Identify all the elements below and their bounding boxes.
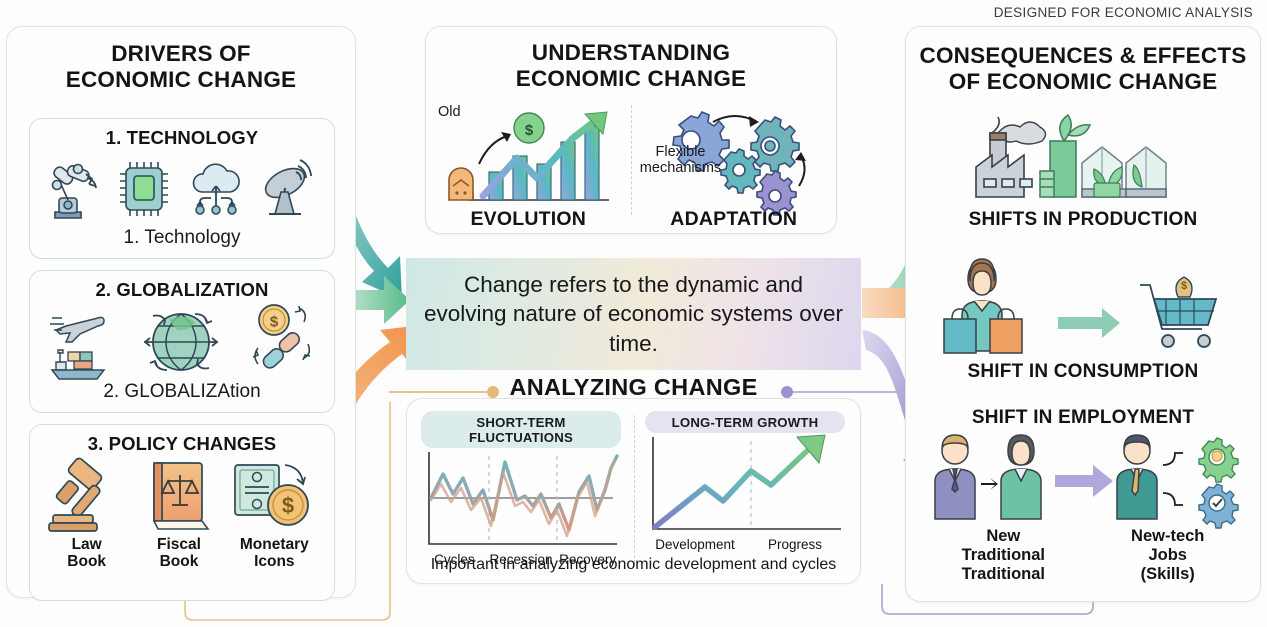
half-evolution: $ Old EVOLUTION bbox=[426, 99, 631, 231]
connector-dot-left bbox=[487, 386, 499, 398]
drivers-title-line1: DRIVERS OF bbox=[7, 41, 355, 67]
money-gear-icon: $ bbox=[514, 113, 544, 143]
airplane-icon bbox=[50, 317, 104, 342]
banknote-coin-icon: $ bbox=[231, 459, 317, 535]
row-shift-in-employment[interactable]: SHIFT IN EMPLOYMENT bbox=[906, 407, 1260, 583]
panel-analyzing-change: SHORT-TERM FLUCTUATIONS Cycles Recession… bbox=[406, 398, 861, 584]
card-technology-head: 1. TECHNOLOGY bbox=[30, 127, 334, 149]
adaptation-label: ADAPTATION bbox=[670, 208, 797, 231]
infographic-canvas: DESIGNED FOR ECONOMIC ANALYSIS bbox=[0, 0, 1267, 627]
policy-item-law-book: Law Book bbox=[47, 459, 127, 571]
panel-drivers-of-economic-change: DRIVERS OF ECONOMIC CHANGE 1. TECHNOLOGY bbox=[6, 26, 356, 598]
worker-woman-icon bbox=[1001, 435, 1041, 519]
employment-small-arrow-icon bbox=[981, 478, 998, 490]
check-gear-icon bbox=[1199, 484, 1238, 528]
card-globalization[interactable]: 2. GLOBALIZATION bbox=[29, 270, 335, 413]
evolution-note: Old bbox=[438, 105, 461, 121]
long-term-axis-captions: Development Progress bbox=[645, 537, 845, 552]
technology-icon-row bbox=[30, 149, 334, 227]
chart-long-term-chip: LONG-TERM GROWTH bbox=[645, 411, 845, 433]
card-policy-changes[interactable]: 3. POLICY CHANGES Law Book bbox=[29, 424, 335, 601]
label-shift-in-employment: SHIFT IN EMPLOYMENT bbox=[906, 407, 1260, 429]
policy-item-monetary-icons: $ Monetary Icons bbox=[231, 459, 317, 571]
bulb-gear-icon bbox=[1199, 438, 1238, 482]
law-book-caption: Law Book bbox=[47, 536, 127, 571]
chart-short-term-fluctuations[interactable]: SHORT-TERM FLUCTUATIONS Cycles Recession… bbox=[421, 411, 621, 567]
drivers-title-line2: ECONOMIC CHANGE bbox=[7, 67, 355, 93]
scales-book-icon bbox=[144, 459, 214, 535]
globalization-icon-row: $ bbox=[30, 301, 334, 381]
label-shift-in-consumption: SHIFT IN CONSUMPTION bbox=[906, 361, 1260, 383]
svg-text:$: $ bbox=[282, 493, 294, 518]
coin-chain-icon: $ bbox=[250, 300, 314, 384]
long-term-line-chart bbox=[645, 433, 845, 537]
analyzing-change-title: ANALYZING CHANGE bbox=[406, 374, 861, 401]
fiscal-book-caption: Fiscal Book bbox=[144, 536, 214, 571]
row-shift-in-consumption[interactable]: $ SHIFT IN CONSUMPTION bbox=[906, 263, 1260, 383]
short-term-line-chart bbox=[421, 448, 621, 552]
adaptation-note: Flexible mechanisms bbox=[638, 145, 724, 177]
analyzing-footer-text: Important in analyzing economic developm… bbox=[407, 556, 860, 574]
cloud-network-icon bbox=[186, 158, 246, 220]
central-statement-text: Change refers to the dynamic and evolvin… bbox=[422, 270, 845, 358]
svg-text:$: $ bbox=[1181, 280, 1187, 292]
policy-icon-row: Law Book bbox=[30, 455, 334, 565]
understanding-title: UNDERSTANDING ECONOMIC CHANGE bbox=[426, 40, 836, 91]
caption-development: Development bbox=[645, 537, 745, 552]
cargo-ship-icon bbox=[52, 350, 104, 379]
row-shifts-in-production[interactable]: SHIFTS IN PRODUCTION bbox=[906, 105, 1260, 231]
card-globalization-head: 2. GLOBALIZATION bbox=[30, 279, 334, 301]
analyze-divider bbox=[634, 415, 635, 563]
card-technology[interactable]: 1. TECHNOLOGY bbox=[29, 118, 335, 259]
drivers-title: DRIVERS OF ECONOMIC CHANGE bbox=[7, 41, 355, 92]
employment-captions: New Traditional Traditional New-tech Job… bbox=[906, 527, 1260, 583]
understanding-halves: $ Old EVOLUTION bbox=[426, 99, 836, 231]
understanding-title-line2: ECONOMIC CHANGE bbox=[426, 66, 836, 92]
employment-caption-left: New Traditional Traditional bbox=[962, 527, 1045, 583]
policy-item-fiscal-book: Fiscal Book bbox=[144, 459, 214, 571]
satellite-dish-icon bbox=[261, 158, 319, 220]
cart-money-bag-icon: $ bbox=[1176, 277, 1192, 297]
dollar-coin-icon: $ bbox=[259, 305, 289, 335]
card-policy-head: 3. POLICY CHANGES bbox=[30, 433, 334, 455]
chain-link-icon bbox=[261, 330, 302, 370]
panel-consequences-effects: CONSEQUENCES & EFFECTS OF ECONOMIC CHANG… bbox=[905, 26, 1261, 602]
svg-text:$: $ bbox=[525, 122, 534, 139]
label-shifts-in-production: SHIFTS IN PRODUCTION bbox=[906, 209, 1260, 231]
consequences-title-line1: CONSEQUENCES & EFFECTS bbox=[906, 43, 1260, 69]
half-adaptation: Flexible mechanisms ADAPTATION bbox=[632, 99, 837, 231]
svg-text:$: $ bbox=[270, 313, 279, 330]
connector-dot-right bbox=[781, 386, 793, 398]
airplane-ship-icon-group bbox=[50, 304, 112, 380]
consequences-title-line2: OF ECONOMIC CHANGE bbox=[906, 69, 1260, 95]
employment-caption-right: New-tech Jobs (Skills) bbox=[1131, 527, 1204, 583]
card-globalization-foot: 2. GLOBALIZAtion bbox=[30, 381, 334, 403]
old-factory-icon bbox=[449, 168, 473, 200]
tech-worker-icon bbox=[1117, 435, 1157, 519]
consequences-title: CONSEQUENCES & EFFECTS OF ECONOMIC CHANG… bbox=[906, 43, 1260, 94]
growth-bar-chart-icon: $ bbox=[433, 108, 623, 208]
monetary-icons-caption: Monetary Icons bbox=[231, 536, 317, 571]
employment-branch-lines bbox=[1163, 453, 1183, 505]
consumption-arrow-icon bbox=[1058, 308, 1120, 338]
understanding-title-line1: UNDERSTANDING bbox=[426, 40, 836, 66]
factory-greenhouse-icon bbox=[958, 105, 1208, 209]
microchip-icon bbox=[116, 158, 172, 220]
evolution-label: EVOLUTION bbox=[470, 208, 586, 231]
globe-icon bbox=[135, 300, 227, 384]
factory-icon bbox=[976, 117, 1046, 197]
worker-man-icon bbox=[935, 435, 975, 519]
header-tagline: DESIGNED FOR ECONOMIC ANALYSIS bbox=[994, 5, 1253, 20]
chart-short-term-chip: SHORT-TERM FLUCTUATIONS bbox=[421, 411, 621, 448]
panel-understanding-economic-change: UNDERSTANDING ECONOMIC CHANGE bbox=[425, 26, 837, 234]
card-technology-foot: 1. Technology bbox=[30, 227, 334, 249]
employment-big-arrow-icon bbox=[1055, 465, 1113, 497]
gavel-icon bbox=[47, 459, 127, 535]
employment-icon-group bbox=[923, 435, 1243, 525]
chart-long-term-growth[interactable]: LONG-TERM GROWTH Development Progress bbox=[645, 411, 845, 552]
robot-arm-icon bbox=[45, 158, 101, 220]
central-statement: Change refers to the dynamic and evolvin… bbox=[406, 258, 861, 370]
consumption-icon-group: $ bbox=[938, 263, 1228, 361]
caption-progress: Progress bbox=[745, 537, 845, 552]
